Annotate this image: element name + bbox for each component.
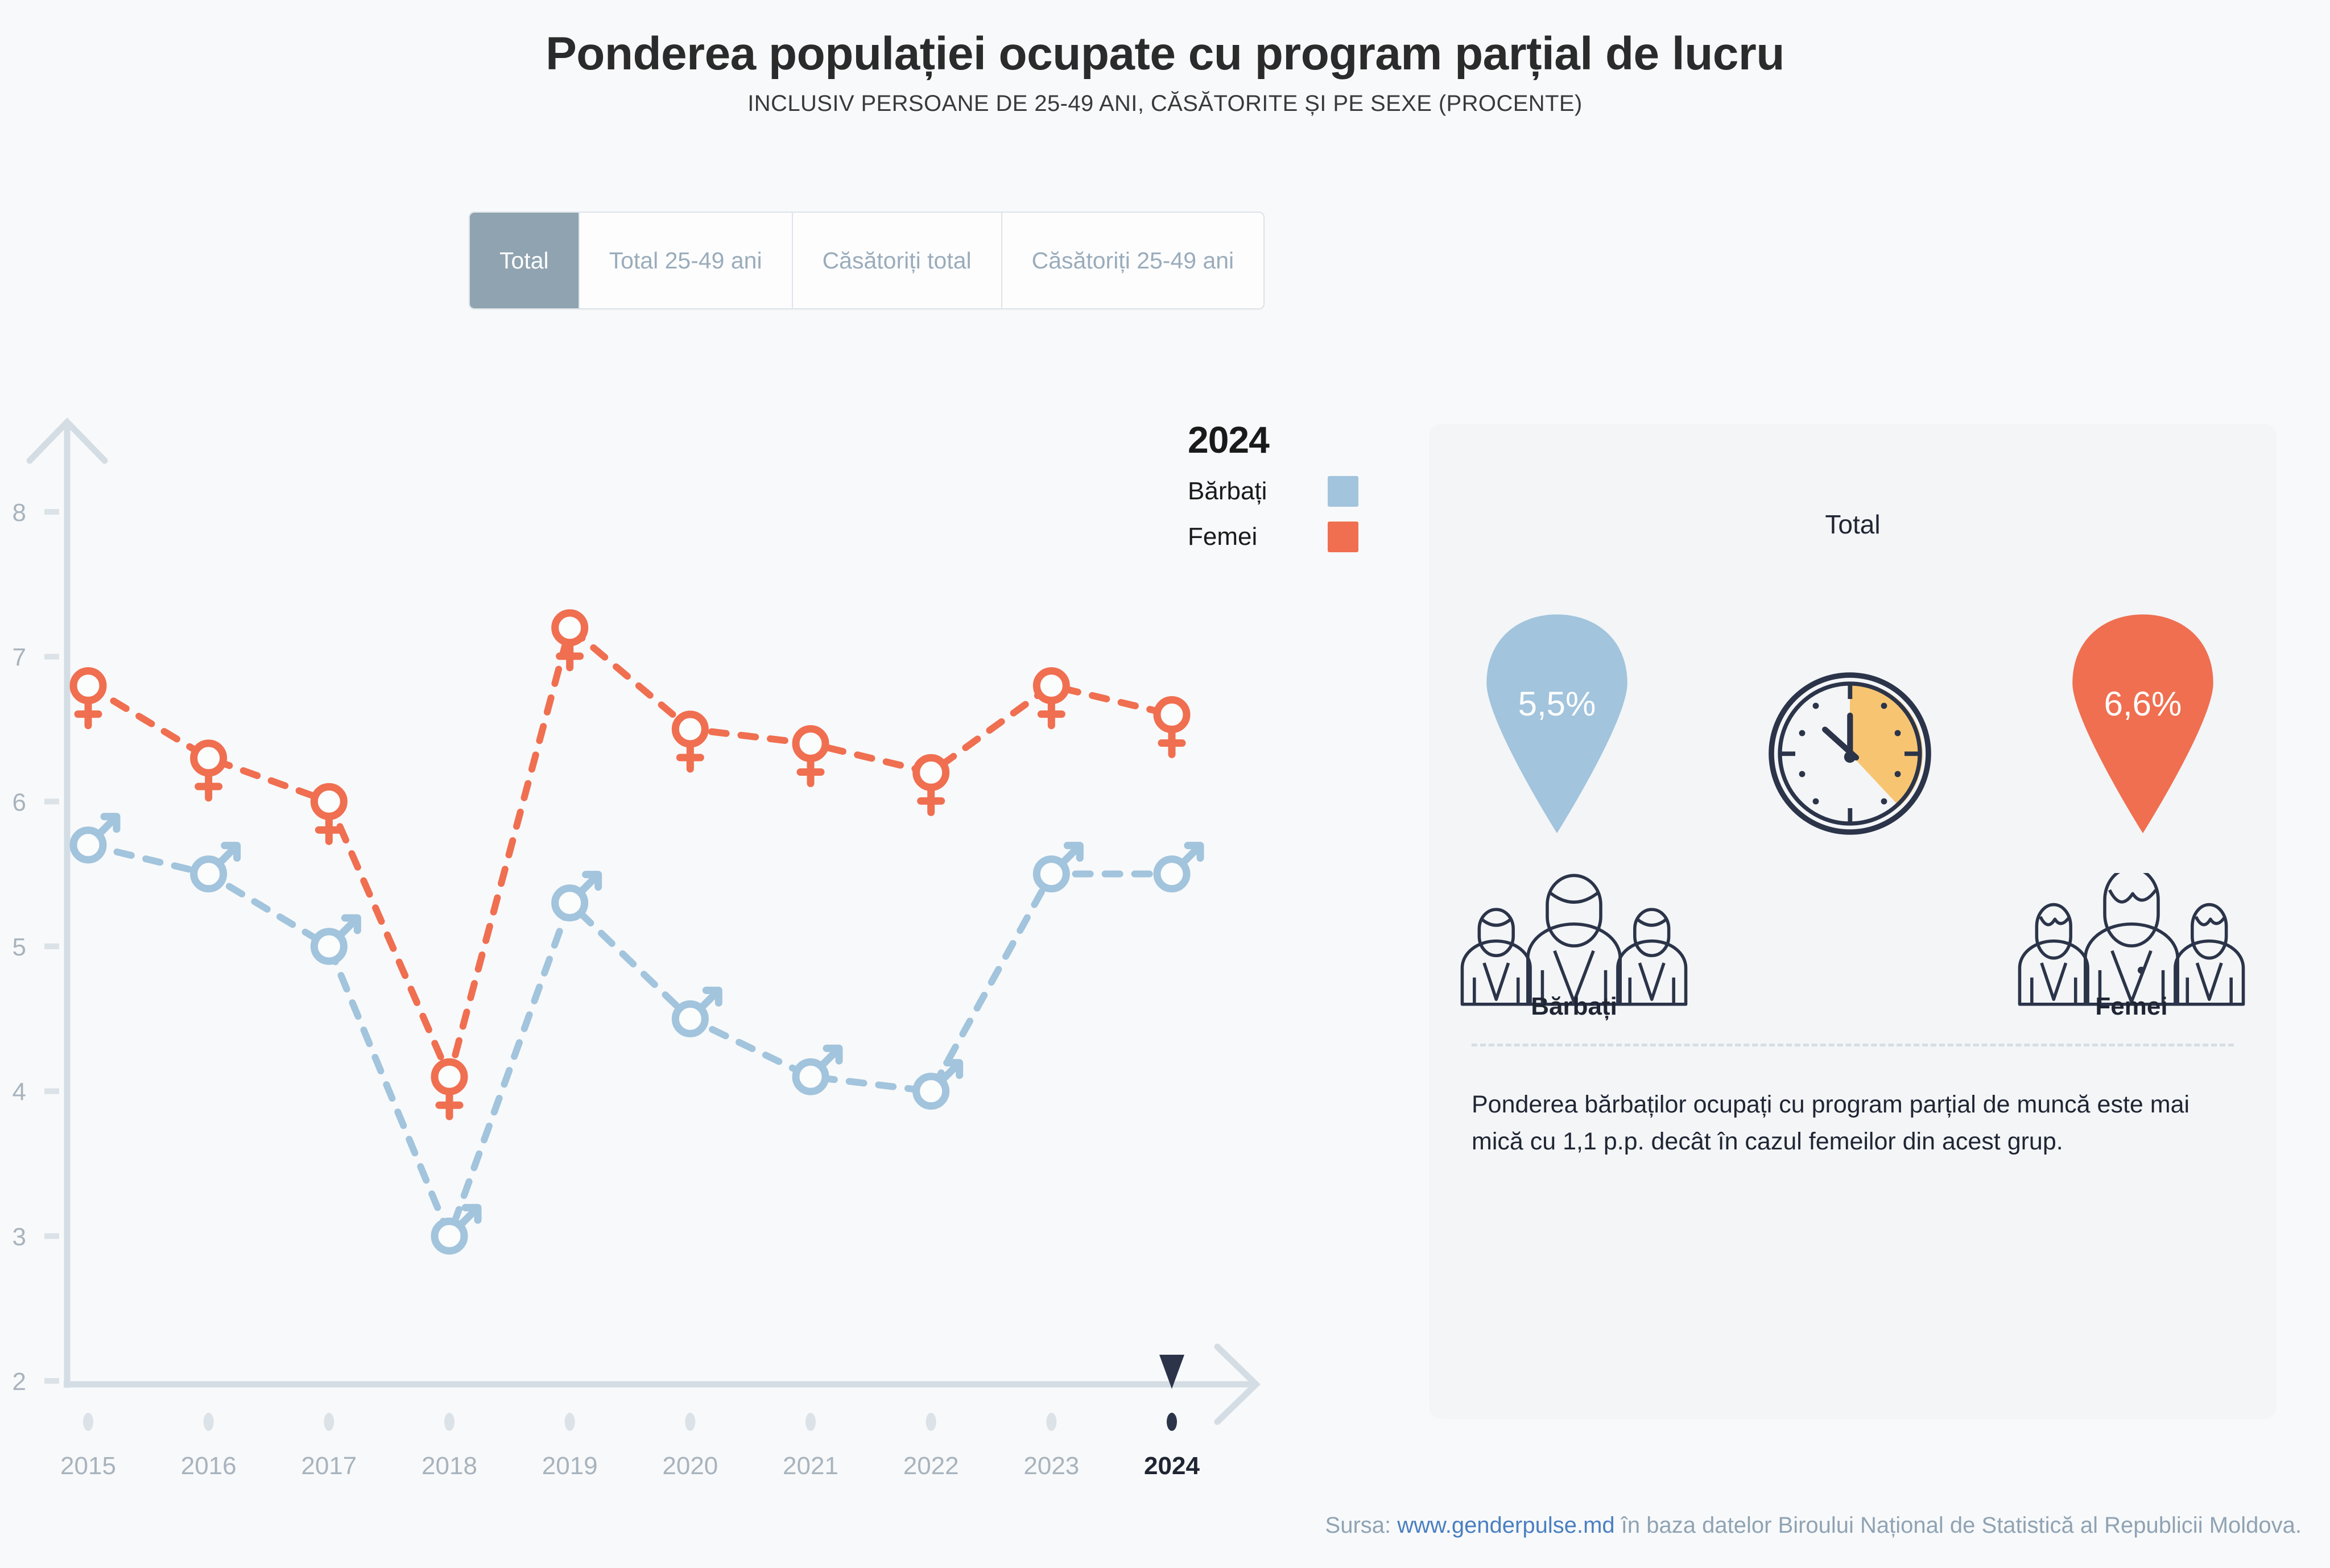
people-group-icon	[1452, 873, 1696, 1007]
x-tick-label[interactable]: 2016	[181, 1452, 237, 1479]
marker-circle	[314, 787, 344, 816]
summary-panel: Total 5,5% 6,6%	[1429, 424, 2277, 1419]
female-symbol-marker[interactable]	[1036, 671, 1066, 726]
female-symbol-marker[interactable]	[675, 714, 705, 769]
people-label-female: Femei	[2009, 992, 2254, 1021]
source-link[interactable]: www.genderpulse.md	[1397, 1513, 1614, 1538]
marker-circle	[1157, 700, 1187, 730]
x-tick	[565, 1413, 575, 1431]
line-chart: 2345678201520162017201820192020202120222…	[0, 398, 1433, 1479]
marker-circle	[675, 714, 705, 744]
y-tick	[44, 509, 59, 515]
x-tick-label[interactable]: 2020	[662, 1452, 718, 1479]
x-tick	[324, 1413, 334, 1431]
legend-label-barbati: Bărbați	[1188, 477, 1267, 506]
tab-1[interactable]: Total 25-49 ani	[580, 213, 793, 308]
source-footer: Sursa: www.genderpulse.md în baza datelo…	[0, 1513, 2330, 1538]
y-tick	[44, 1233, 59, 1239]
x-tick-label[interactable]: 2019	[542, 1452, 598, 1479]
x-tick	[685, 1413, 695, 1431]
female-symbol-marker[interactable]	[73, 671, 103, 726]
tab-3[interactable]: Căsătoriți 25-49 ani	[1002, 213, 1264, 308]
female-symbol-marker[interactable]	[916, 758, 946, 812]
legend-item-femei: Femei	[1188, 522, 1358, 552]
y-tick	[44, 799, 59, 804]
marker-circle	[73, 671, 103, 701]
source-suffix: în baza datelor Biroului Național de Sta…	[1615, 1513, 2302, 1538]
legend-swatch-femei	[1328, 522, 1358, 552]
legend-label-femei: Femei	[1188, 523, 1257, 551]
y-tick-label: 3	[13, 1223, 26, 1251]
legend-swatch-barbati	[1328, 476, 1358, 507]
male-symbol-marker[interactable]	[194, 846, 237, 889]
marker-circle	[555, 613, 585, 643]
marker-circle	[435, 1062, 464, 1091]
x-tick	[1167, 1413, 1177, 1431]
y-tick	[44, 944, 59, 949]
tab-2[interactable]: Căsătoriți total	[793, 213, 1002, 308]
x-tick	[926, 1413, 936, 1431]
male-symbol-marker[interactable]	[555, 875, 598, 918]
panel-description: Ponderea bărbaților ocupați cu program p…	[1472, 1086, 2228, 1160]
female-symbol-marker[interactable]	[555, 613, 585, 668]
y-tick	[44, 654, 59, 660]
marker-circle	[1036, 671, 1066, 701]
x-tick	[83, 1413, 93, 1431]
page-subtitle: INCLUSIV PERSOANE DE 25-49 ANI, CĂSĂTORI…	[0, 91, 2330, 117]
male-symbol-marker[interactable]	[314, 918, 357, 961]
male-symbol-marker[interactable]	[73, 817, 117, 860]
x-tick	[204, 1413, 214, 1431]
source-prefix: Sursa:	[1325, 1513, 1398, 1538]
marker-circle	[916, 758, 946, 787]
marker-circle	[796, 729, 825, 758]
tab-bar[interactable]: TotalTotal 25-49 aniCăsătoriți totalCăsă…	[469, 212, 1265, 309]
y-tick-label: 5	[13, 933, 26, 961]
pin-male: 5,5%	[1480, 611, 1634, 833]
marker-circle	[194, 743, 224, 773]
male-symbol-marker[interactable]	[796, 1048, 839, 1091]
x-tick-label[interactable]: 2015	[60, 1452, 116, 1479]
female-symbol-marker[interactable]	[796, 729, 825, 783]
panel-divider	[1472, 1044, 2234, 1046]
x-tick	[444, 1413, 455, 1431]
x-tick-label[interactable]: 2024	[1144, 1452, 1200, 1479]
x-tick-label[interactable]: 2018	[422, 1452, 477, 1479]
series-line-bărbați	[88, 845, 1172, 1236]
chart-canvas: 2345678201520162017201820192020202120222…	[0, 398, 1433, 1479]
y-tick	[44, 1089, 59, 1094]
female-symbol-marker[interactable]	[194, 743, 224, 798]
y-tick-label: 6	[13, 788, 26, 816]
header: Ponderea populației ocupate cu program p…	[0, 30, 2330, 117]
series-line-femei	[88, 628, 1172, 1077]
page-title: Ponderea populației ocupate cu program p…	[0, 30, 2330, 78]
female-symbol-marker[interactable]	[314, 787, 344, 841]
x-tick	[805, 1413, 816, 1431]
pin-female: 6,6%	[2066, 611, 2220, 833]
y-tick-label: 7	[13, 644, 26, 672]
x-tick-label[interactable]: 2023	[1023, 1452, 1079, 1479]
clock-icon	[1765, 668, 1935, 839]
pin-female-value: 6,6%	[2066, 684, 2220, 723]
legend-item-barbati: Bărbați	[1188, 476, 1358, 507]
legend-year: 2024	[1188, 418, 1393, 461]
panel-title: Total	[1429, 509, 2277, 540]
female-symbol-marker[interactable]	[1157, 700, 1187, 755]
female-symbol-marker[interactable]	[435, 1062, 464, 1116]
people-label-male: Bărbați	[1452, 992, 1696, 1021]
y-tick-label: 4	[13, 1078, 26, 1106]
x-tick-label[interactable]: 2021	[783, 1452, 838, 1479]
male-symbol-marker[interactable]	[916, 1063, 960, 1106]
chart-legend: 2024 Bărbați Femei	[1188, 418, 1393, 552]
infographic-page: Ponderea populației ocupate cu program p…	[0, 0, 2330, 1568]
male-symbol-marker[interactable]	[1036, 846, 1080, 889]
x-tick-label[interactable]: 2022	[903, 1452, 959, 1479]
tab-0[interactable]: Total	[470, 213, 580, 308]
x-tick-label[interactable]: 2017	[301, 1452, 357, 1479]
x-tick	[1046, 1413, 1056, 1431]
pin-male-value: 5,5%	[1480, 684, 1634, 723]
y-tick-label: 2	[13, 1368, 26, 1396]
male-symbol-marker[interactable]	[1157, 846, 1200, 889]
people-group-icon	[2009, 873, 2254, 1007]
y-tick	[44, 1378, 59, 1384]
y-tick-label: 8	[13, 499, 26, 527]
